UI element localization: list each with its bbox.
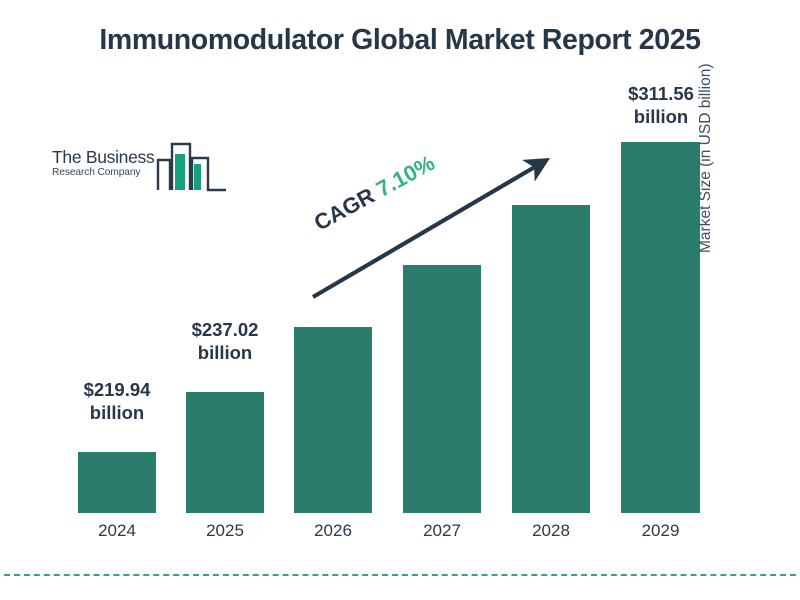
x-tick-2027: 2027	[403, 521, 481, 541]
bar-2029[interactable]	[621, 142, 700, 513]
bar-2024[interactable]	[78, 452, 156, 513]
bar-label-2025: $237.02 billion	[170, 319, 280, 364]
x-tick-2026: 2026	[294, 521, 372, 541]
x-tick-2025: 2025	[186, 521, 264, 541]
bar-label-2029-value: $311.56	[628, 83, 694, 104]
x-tick-2029: 2029	[621, 521, 700, 541]
bar-label-2024-unit: billion	[90, 402, 144, 423]
x-tick-2024: 2024	[78, 521, 156, 541]
bar-label-2025-value: $237.02	[192, 319, 259, 340]
bar-2026[interactable]	[294, 327, 372, 513]
bar-label-2024-value: $219.94	[84, 379, 151, 400]
bar-label-2029-unit: billion	[634, 106, 688, 127]
chart-page: Immunomodulator Global Market Report 202…	[0, 0, 800, 600]
x-tick-2028: 2028	[512, 521, 590, 541]
bar-chart-plot: $219.94 billion $237.02 billion $311.56 …	[0, 0, 800, 600]
bottom-divider	[4, 574, 796, 576]
y-axis-title: Market Size (in USD billion)	[697, 0, 715, 253]
bar-label-2025-unit: billion	[198, 342, 252, 363]
bar-label-2024: $219.94 billion	[62, 379, 172, 424]
bar-2025[interactable]	[186, 392, 264, 513]
